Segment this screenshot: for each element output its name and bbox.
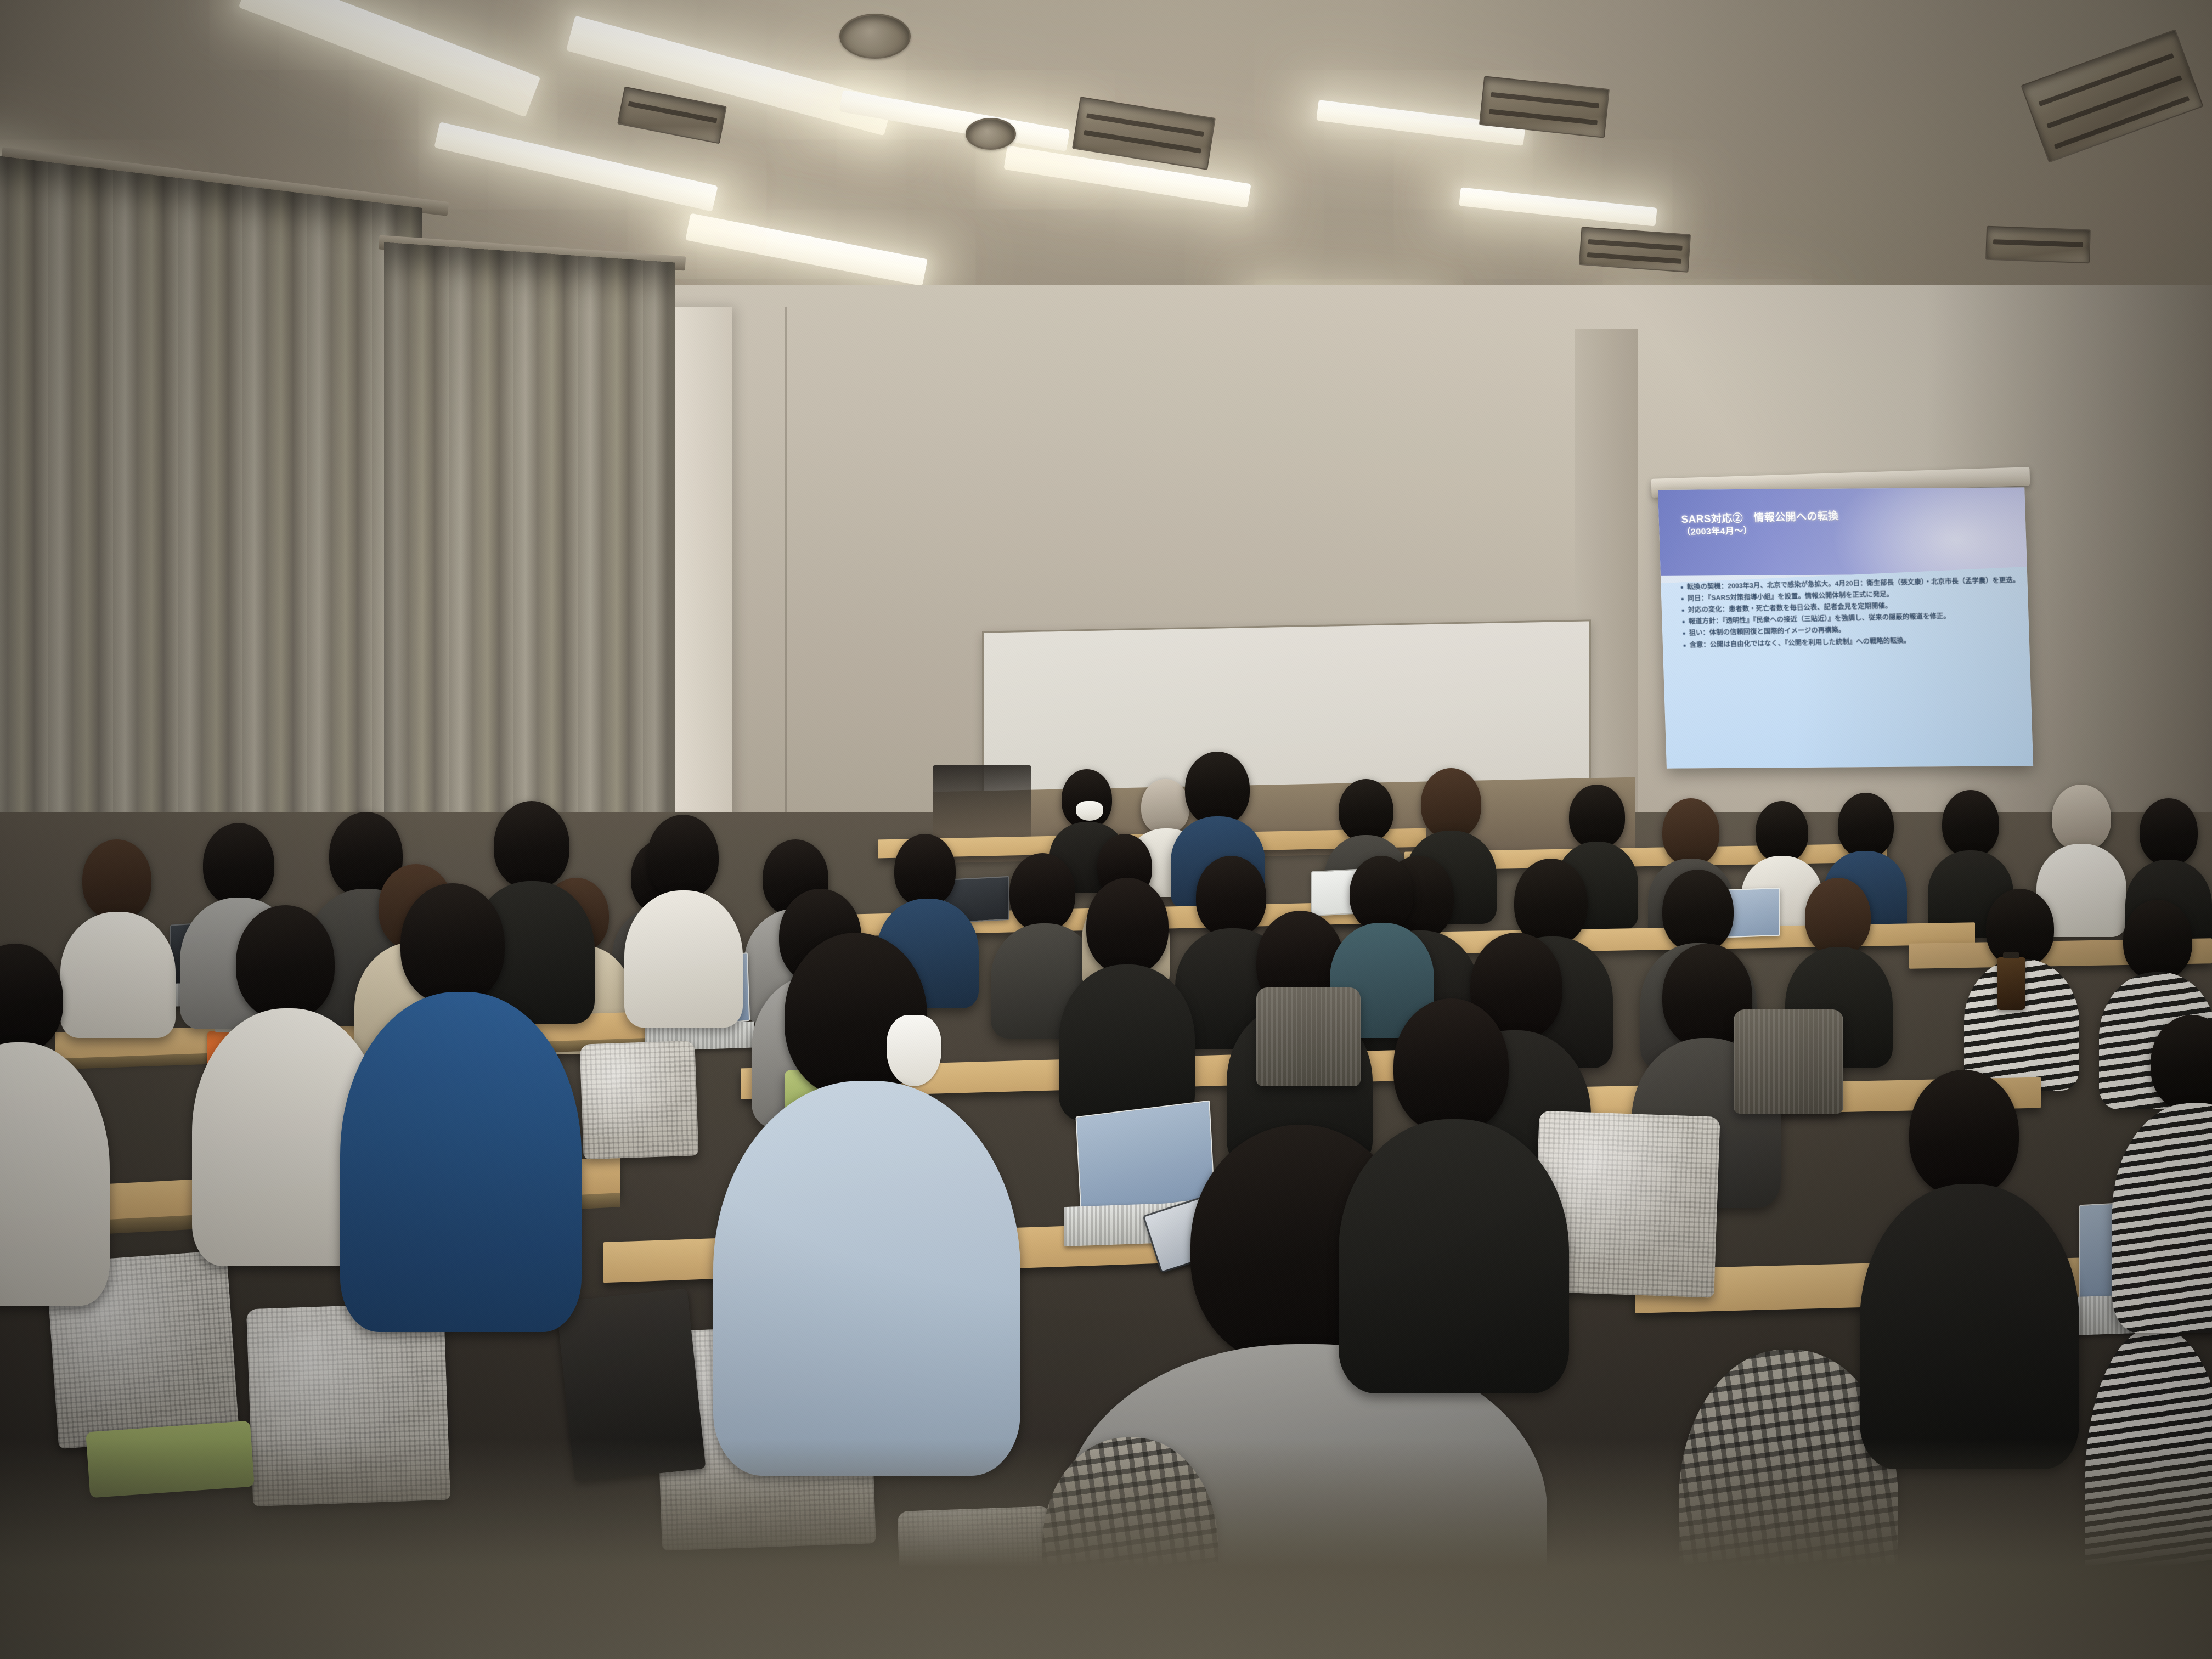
head [1393,998,1509,1133]
head [2052,785,2111,850]
head [400,883,505,1004]
classroom-chair[interactable] [1734,1009,1843,1114]
head [1350,856,1413,930]
laptop-computer[interactable] [1075,1100,1215,1215]
head [1514,859,1588,945]
head [1009,853,1075,931]
head [1421,768,1481,838]
head [1185,752,1250,825]
head [236,905,335,1019]
head [647,815,719,898]
head [1569,785,1625,848]
head [1662,870,1734,952]
ceiling-vent-grille [1579,227,1691,273]
lecture-hall-photo: SARS対応② 情報公開への転換 （2003年4月～） 転換の契機：2003年3… [0,0,2212,1659]
head [1662,798,1719,865]
floor-foreground [0,1440,2212,1659]
head [1339,779,1393,842]
bottle-cap [2003,952,2019,958]
classroom-chair[interactable] [579,1040,698,1159]
slide: SARS対応② 情報公開への転換 （2003年4月～） 転換の契機：2003年3… [1658,487,2033,768]
head [2123,900,2192,980]
ceiling-speaker [839,14,911,59]
head [1756,801,1808,862]
projection-screen: SARS対応② 情報公開への転換 （2003年4月～） 転換の契機：2003年3… [1658,487,2033,768]
torso [624,890,743,1028]
head [894,834,956,906]
slide-title: SARS対応② 情報公開への転換 （2003年4月～） [1681,510,1839,538]
ceiling-speaker [966,118,1016,150]
head [1909,1070,2019,1196]
tea-bottle[interactable] [1997,957,2025,1010]
head [494,801,569,889]
head [1986,889,2054,967]
head [1141,779,1189,834]
torso [713,1081,1020,1476]
head [82,839,151,919]
torso [1059,964,1195,1121]
torso [1339,1119,1569,1393]
head [2140,798,2198,865]
head [1086,878,1169,974]
classroom-chair[interactable] [1256,988,1361,1086]
head [1838,793,1894,857]
ceiling-vent-grille [1985,226,2091,264]
torso [340,992,582,1332]
torso [1860,1184,2079,1469]
wall-seam [785,307,787,889]
face-mask [887,1015,941,1086]
head [203,823,274,905]
torso [60,912,176,1038]
head [1196,856,1266,937]
face-mask [1076,801,1103,821]
head [1942,790,1999,857]
slide-bullet-list: 転換の契機：2003年3月、北京で感染が急拡大。4月20日：衛生部長（張文康）・… [1680,575,2022,652]
head [1805,878,1871,955]
